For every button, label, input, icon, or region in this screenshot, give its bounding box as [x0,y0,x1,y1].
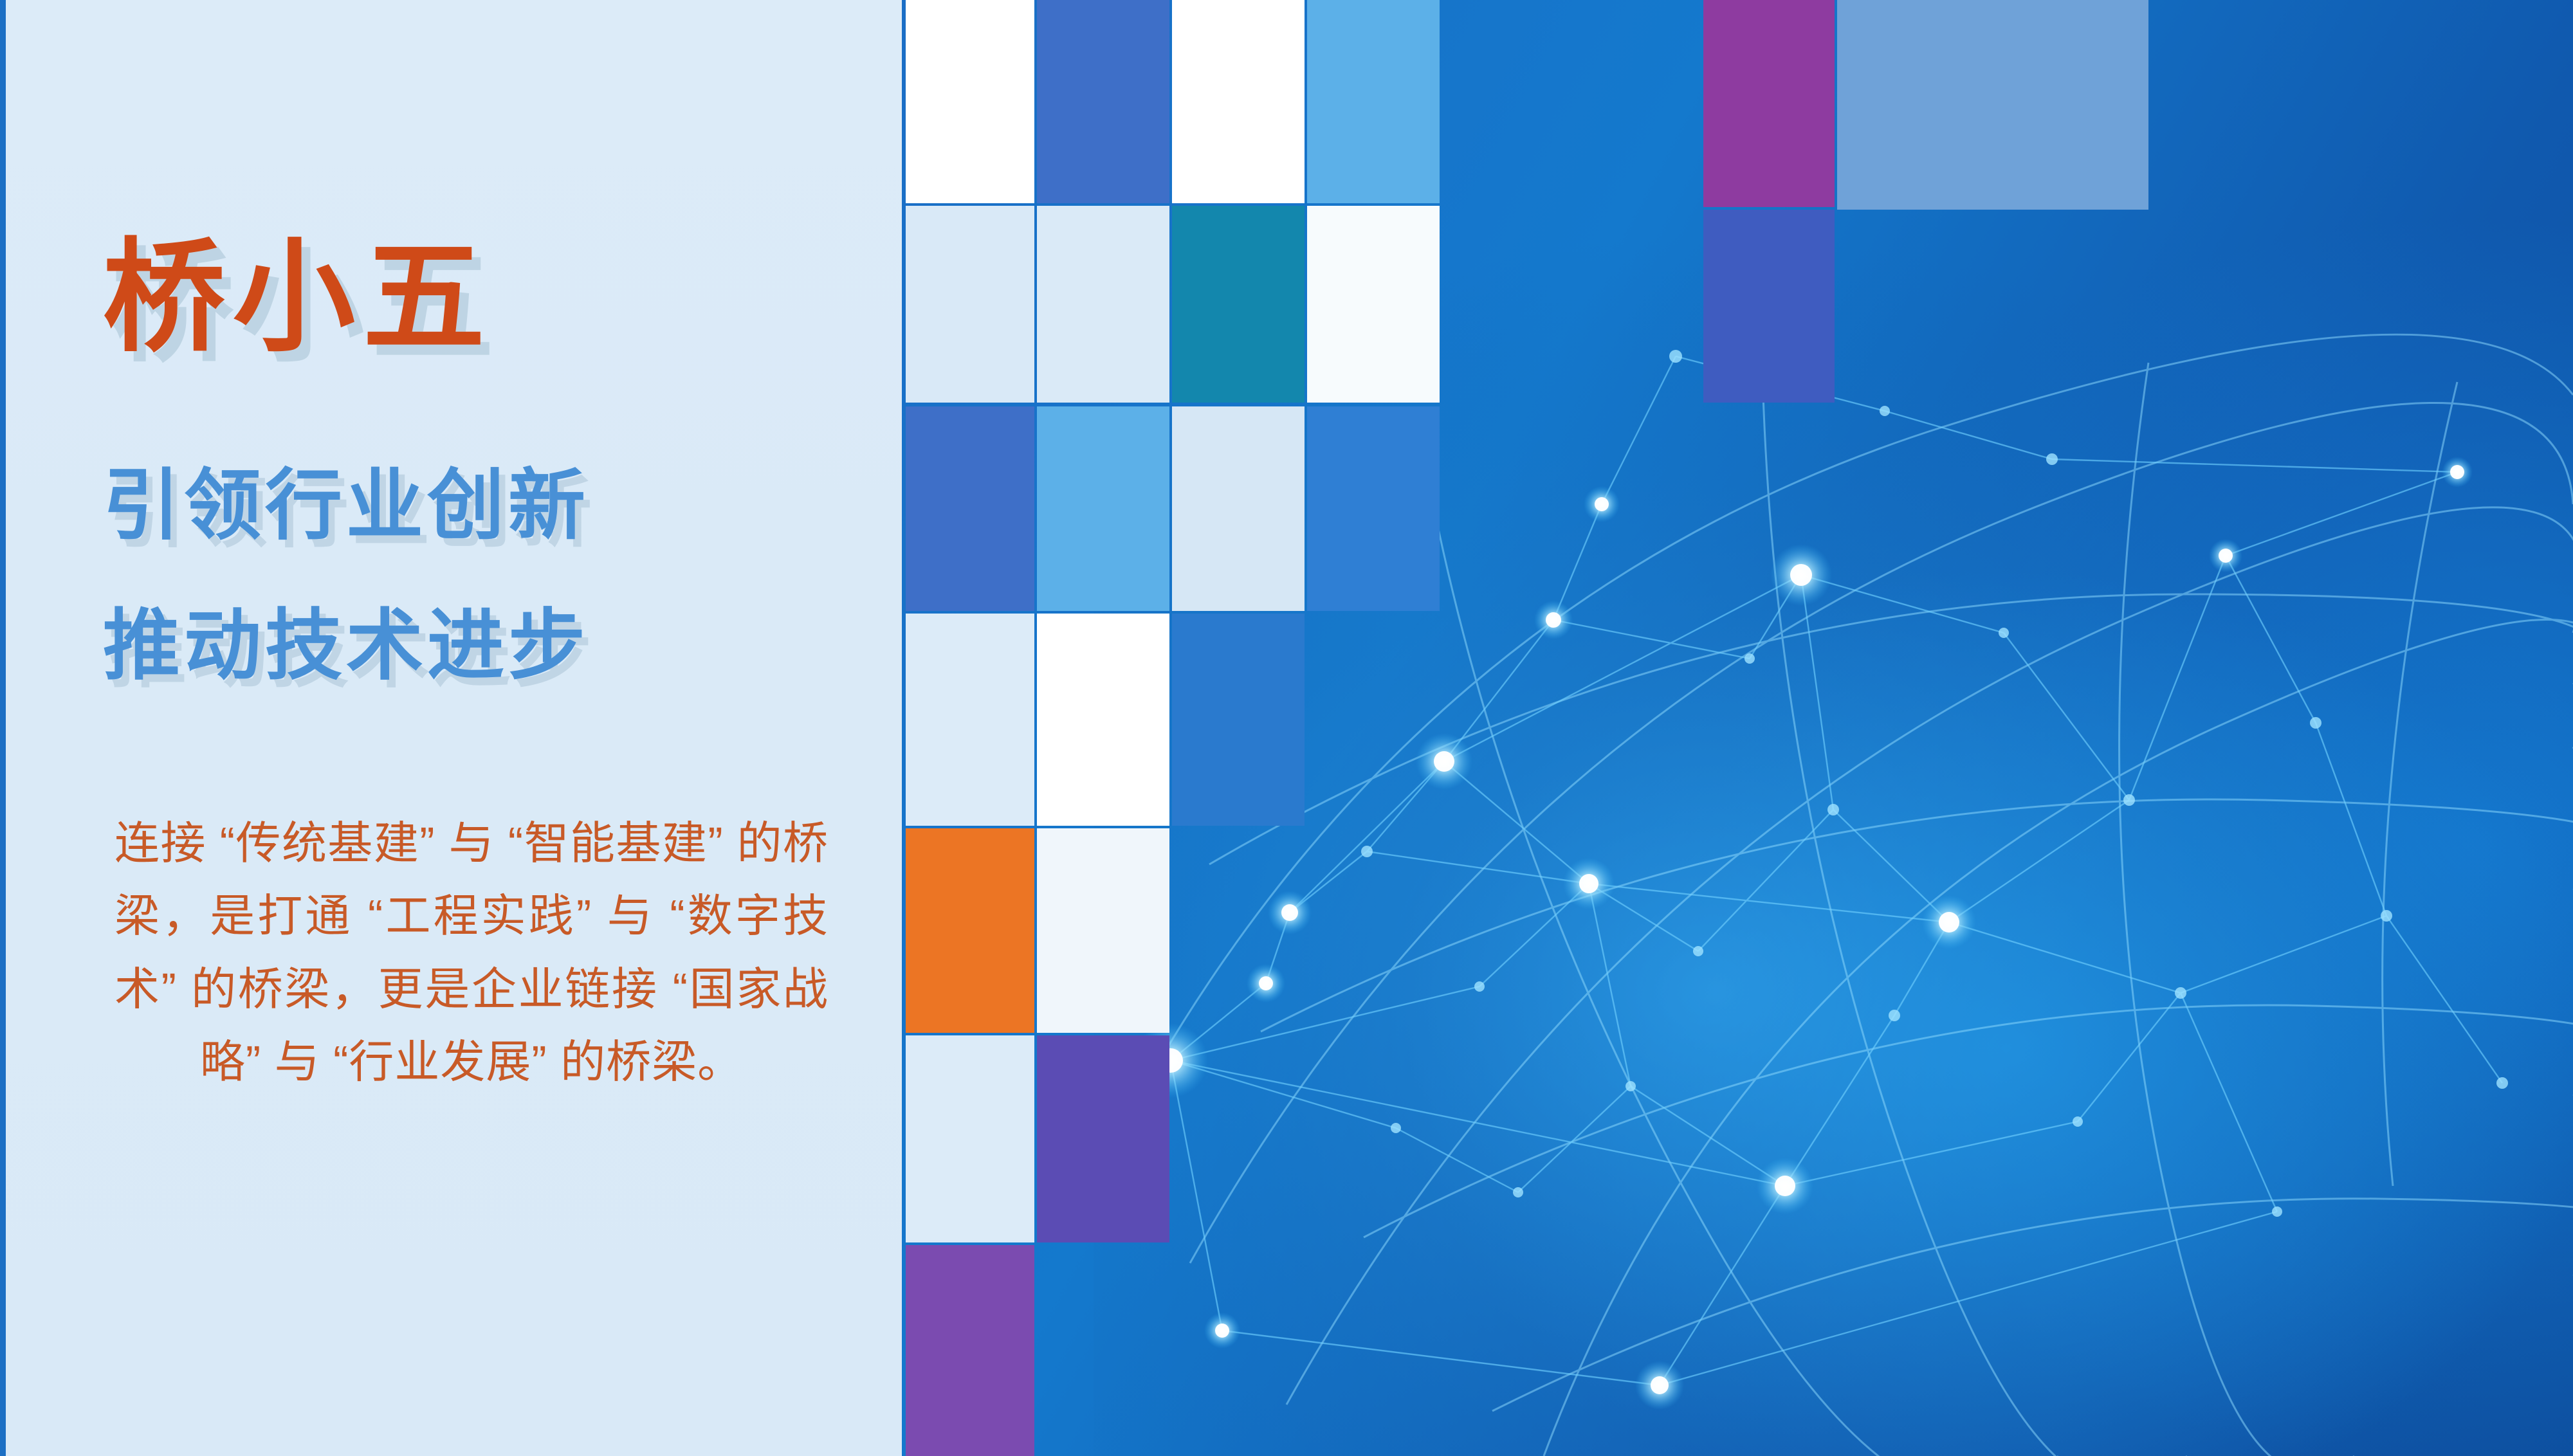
network-node [2381,910,2392,922]
network-node [2123,794,2135,806]
network-node [2046,453,2058,465]
network-node [1625,1081,1636,1091]
network-node [1790,564,1812,586]
network-node [1939,912,1959,933]
network-node [2450,465,2464,479]
network-node [1546,612,1561,628]
network-node [1474,981,1485,992]
network-node [2219,549,2233,563]
network-node [1158,1048,1183,1073]
slogan-line-2: 推动技术进步 [103,607,589,684]
network-node [1999,628,2009,638]
network-node [1669,350,1682,363]
network-node [1579,874,1598,893]
network-globe-graphic [1094,234,2573,1456]
network-node [1880,406,1890,416]
network-node [1744,653,1755,664]
body-copy-paragraph: 连接 “传统基建” 与 “智能基建” 的桥梁，是打通 “工程实践” 与 “数字技… [114,807,829,1099]
network-node [1361,846,1373,857]
network-node [1434,751,1454,772]
network-node [1391,1123,1401,1133]
slogan-line-1: 引领行业创新 [103,467,589,544]
network-node [1651,1376,1669,1394]
network-node [1281,904,1298,921]
network-node [1827,804,1839,815]
network-node [2496,1077,2508,1089]
network-node [2073,1116,2083,1127]
network-node [2310,717,2321,729]
network-node [2272,1206,2282,1217]
network-node [1775,1176,1795,1196]
poster-root: 桥小五 引领行业创新 推动技术进步 连接 “传统基建” 与 “智能基建” 的桥梁… [0,0,2573,1456]
network-node [1693,946,1703,956]
network-node [1889,1010,1900,1021]
network-node [1259,976,1273,990]
network-node [2175,987,2186,999]
brand-title: 桥小五 [103,237,493,359]
text-content-block: 桥小五 引领行业创新 推动技术进步 连接 “传统基建” 与 “智能基建” 的桥梁… [0,0,902,1456]
network-node [1595,497,1609,511]
network-node [1513,1187,1523,1197]
network-node [1215,1324,1229,1338]
